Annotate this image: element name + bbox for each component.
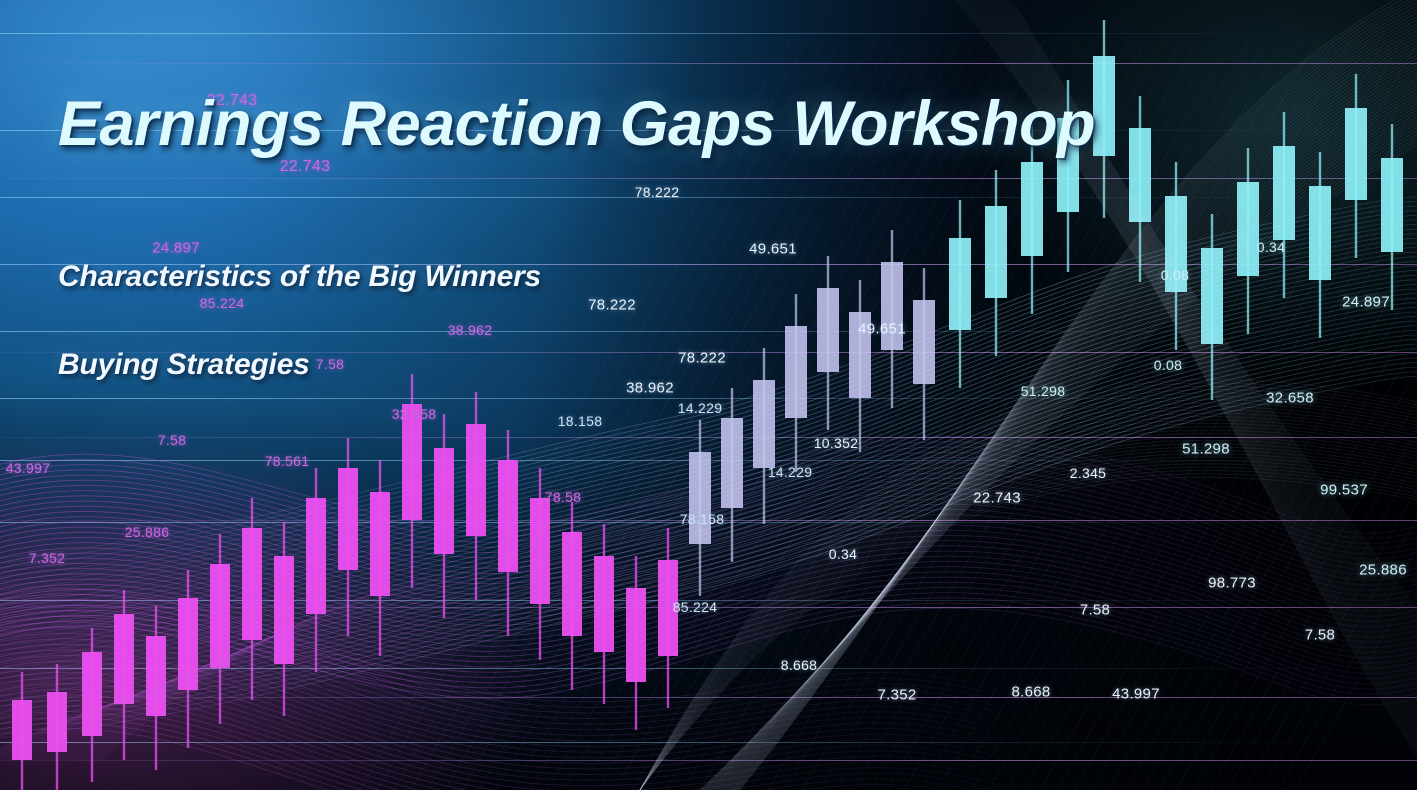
headline-block: Earnings Reaction Gaps Workshop Characte… bbox=[0, 0, 1417, 790]
slide-canvas: 22.74322.74324.89785.2247.5878.56143.997… bbox=[0, 0, 1417, 790]
subtitle-buying-strategies: Buying Strategies bbox=[58, 348, 310, 382]
page-title: Earnings Reaction Gaps Workshop bbox=[58, 88, 1095, 160]
subtitle-characteristics: Characteristics of the Big Winners bbox=[58, 260, 541, 294]
